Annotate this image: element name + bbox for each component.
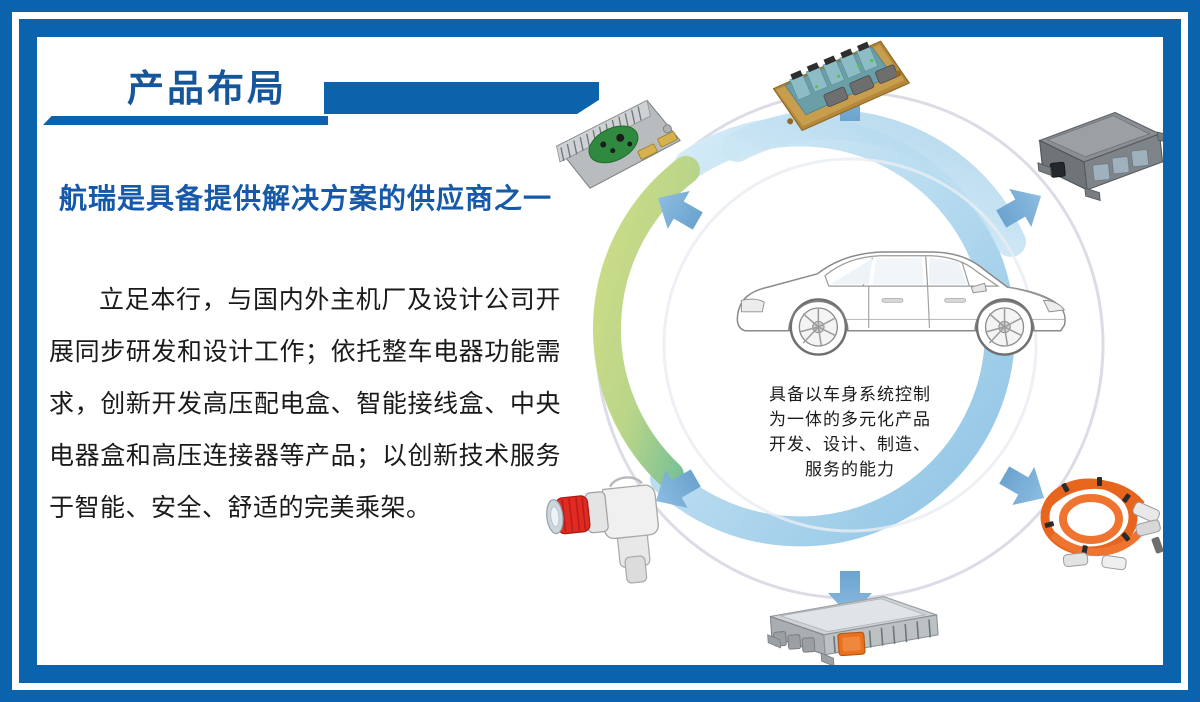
ring-graphics — [537, 37, 1163, 665]
title-underline-bar — [43, 116, 328, 125]
center-caption-line-2: 为一体的多元化产品 — [750, 407, 950, 432]
body-paragraph: 立足本行，与国内外主机厂及设计公司开展同步研发和设计工作；依托整车电器功能需求，… — [49, 275, 561, 535]
center-caption: 具备以车身系统控制 为一体的多元化产品 开发、设计、制造、 服务的能力 — [750, 382, 950, 482]
page-title: 产品布局 — [127, 66, 287, 112]
slide-canvas: 产品布局 航瑞是具备提供解决方案的供应商之一 立足本行，与国内外主机厂及设计公司… — [37, 37, 1163, 665]
sedan-car-illustration — [737, 252, 1065, 355]
slide-root: 产品布局 航瑞是具备提供解决方案的供应商之一 立足本行，与国内外主机厂及设计公司… — [0, 0, 1200, 702]
product-hv-connector-red-white — [544, 475, 664, 591]
subtitle-heading: 航瑞是具备提供解决方案的供应商之一 — [59, 177, 552, 217]
product-power-distribution-box — [766, 593, 940, 665]
center-caption-line-4: 服务的能力 — [750, 457, 950, 482]
center-caption-line-3: 开发、设计、制造、 — [750, 432, 950, 457]
product-orange-hv-cable-harness — [1044, 477, 1163, 570]
product-cycle-diagram: 具备以车身系统控制 为一体的多元化产品 开发、设计、制造、 服务的能力 — [537, 37, 1163, 665]
center-caption-line-1: 具备以车身系统控制 — [750, 382, 950, 407]
title-banner: 产品布局 — [37, 62, 612, 134]
